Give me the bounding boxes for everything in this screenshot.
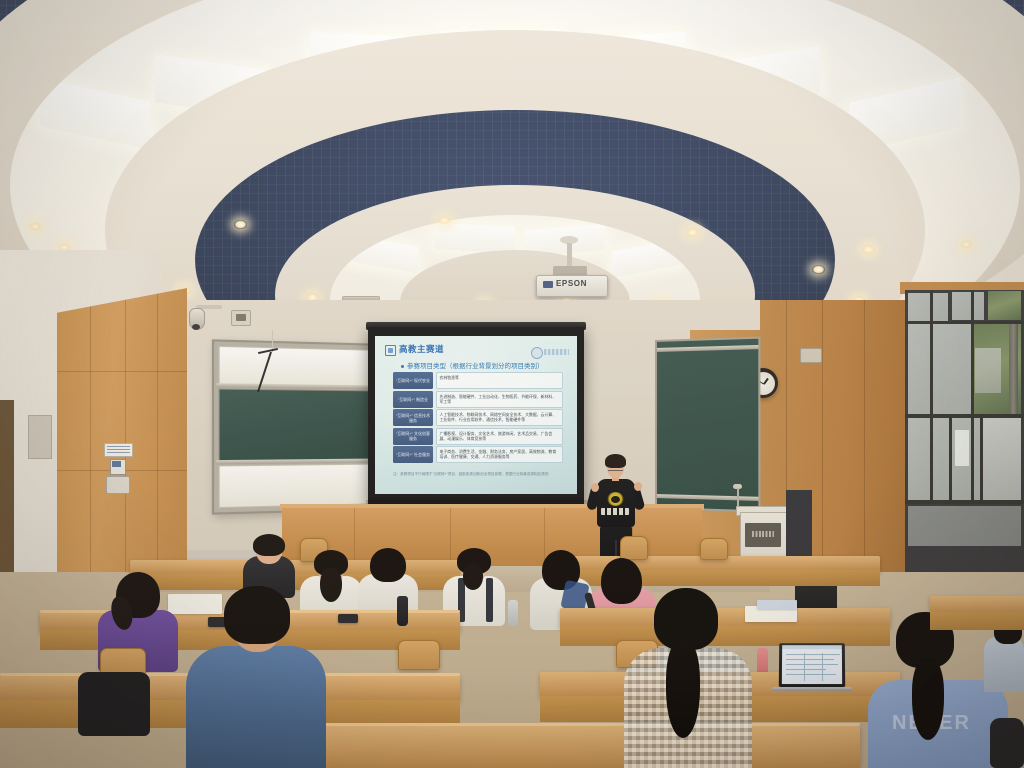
window-mullion	[905, 500, 1024, 504]
chair[interactable]	[398, 640, 440, 670]
light-panel	[612, 238, 682, 278]
water-bottle[interactable]	[397, 596, 408, 626]
laptop[interactable]	[779, 643, 845, 687]
table-value-cell: 农林牧渔等	[436, 372, 564, 389]
window-mullion	[905, 414, 1024, 418]
table-row: “互联网+” 信息技术服务 人工智能技术、物联网技术、网络空间安全技术、大数据、…	[393, 409, 563, 426]
window-pane	[955, 430, 969, 466]
presenter-shirt-text	[601, 508, 629, 515]
phone[interactable]	[338, 614, 358, 623]
window-pane	[933, 324, 971, 414]
window-mullion	[905, 321, 1024, 324]
table-row: “互联网+” 社会服务 电子商务、消费生活、金融、财务法务、房产家居、高效物流、…	[393, 446, 563, 463]
table-key-cell: “互联网+” 现代农业	[393, 372, 433, 389]
lecture-hall-photo: EPSON	[0, 0, 1024, 768]
table-key-cell: “互联网+” 信息技术服务	[393, 409, 433, 426]
presenter-right-hand	[634, 482, 642, 491]
light-panel	[348, 235, 418, 273]
table-value-cell: 先进制造、智能硬件、工业自动化、生物医药、节能环保、新材料、军工等	[436, 391, 564, 408]
laptop-display	[782, 645, 842, 684]
left-door[interactable]	[0, 400, 14, 600]
table-row: “互联网+” 文化创意服务 广播影视、设计服务、文化艺术、旅游休闲、艺术品交易、…	[393, 428, 563, 445]
window-mullion	[949, 414, 952, 504]
desk-row-b2	[560, 608, 890, 628]
window-mullion	[980, 414, 983, 504]
window-mullion	[971, 290, 974, 504]
desk-edge-front	[300, 723, 860, 726]
downlight	[960, 240, 973, 249]
spreadsheet-header	[782, 645, 842, 649]
window-wall	[905, 290, 1024, 620]
window-pane	[933, 418, 949, 500]
presenter-hair	[605, 454, 626, 468]
downlight	[862, 245, 875, 254]
downlight	[438, 216, 451, 225]
bag-right[interactable]	[990, 718, 1024, 768]
slide-bullet: 参赛项目类型（根据行业背景划分的项目类别）	[401, 360, 544, 370]
window-pane	[908, 293, 948, 321]
window-grid	[905, 290, 1024, 620]
table-key-cell: “互联网+” 文化创意服务	[393, 428, 433, 445]
slide-title-icon	[385, 345, 396, 356]
table-row: “互联网+” 制造业 先进制造、智能硬件、工业自动化、生物医药、节能环保、新材料…	[393, 391, 563, 408]
projection-screen: 高教主赛道 参赛项目类型（根据行业背景划分的项目类别） “互联网+” 现代农业 …	[368, 327, 584, 507]
slide-footnote: 注：参赛项目不只局限于“互联网+”项目，鼓励各类创新创业项目参赛，根据行业背景选…	[393, 472, 565, 477]
light-panel	[435, 223, 515, 253]
desk-row-d	[300, 726, 860, 768]
wall-recess	[28, 415, 52, 459]
camera-lens-icon	[192, 324, 200, 330]
water-bottle[interactable]	[508, 600, 518, 626]
chair[interactable]	[700, 538, 728, 560]
slide-surface: 高教主赛道 参赛项目类型（根据行业背景划分的项目类别） “互联网+” 现代农业 …	[375, 336, 577, 494]
lectern-mic-stem	[737, 488, 739, 508]
downlight	[812, 265, 825, 274]
projector-brand-label: EPSON	[556, 279, 587, 288]
presenter-left-hand	[591, 483, 599, 492]
table-row: “互联网+” 现代农业 农林牧渔等	[393, 372, 563, 389]
backpack[interactable]	[78, 672, 150, 736]
window-pane	[908, 324, 930, 414]
table-key-cell: “互联网+” 制造业	[393, 391, 433, 408]
downlight	[234, 220, 247, 229]
table-value-cell: 电子商务、消费生活、金融、财务法务、房产家居、高效物流、教育培训、医疗健康、交通…	[436, 446, 564, 463]
laptop-base[interactable]	[772, 687, 853, 690]
slide-bullet-text: 参赛项目类型（根据行业背景划分的项目类别）	[407, 363, 544, 370]
window-pane	[952, 292, 984, 320]
downlight	[686, 228, 699, 237]
table-value-cell: 广播影视、设计服务、文化艺术、旅游休闲、艺术品交易、广告会展、动漫娱乐、体育竞技…	[436, 428, 564, 445]
wall-outlet-box	[106, 476, 130, 494]
chalkboard-right	[655, 337, 760, 513]
chair[interactable]	[620, 536, 648, 560]
lectern-logo-icon	[752, 531, 774, 537]
window-pane-building	[983, 418, 1021, 500]
presenter-shirt-graphic	[607, 492, 624, 506]
window-pane-building	[975, 348, 1001, 393]
window-pane	[908, 418, 930, 500]
wall-speaker-icon	[231, 310, 251, 326]
window-mullion	[930, 290, 933, 504]
papers	[168, 594, 222, 614]
wall-speaker-icon-right	[800, 348, 822, 363]
university-logo-icon	[531, 347, 569, 358]
equipment-rack-backdrop	[786, 490, 812, 562]
table-value-cell: 人工智能技术、物联网技术、网络空间安全技术、大数据、云计算、工业软件、行业应用软…	[436, 409, 564, 426]
wall-sign	[104, 443, 133, 457]
table-key-cell: “互联网+” 社会服务	[393, 446, 433, 463]
downlight	[29, 222, 42, 231]
window-pane-foliage	[988, 291, 1021, 320]
desk-right-edge-front	[930, 612, 1024, 630]
projector-logo-icon	[543, 281, 553, 288]
window-pane-lower	[908, 506, 1021, 546]
slide-table: “互联网+” 现代农业 农林牧渔等 “互联网+” 制造业 先进制造、智能硬件、工…	[393, 372, 563, 465]
slide-title: 高教主赛道	[399, 343, 444, 355]
light-panel	[40, 78, 150, 149]
tree-trunk	[1009, 323, 1018, 415]
av-control-screen[interactable]	[112, 461, 121, 467]
papers	[757, 600, 797, 609]
